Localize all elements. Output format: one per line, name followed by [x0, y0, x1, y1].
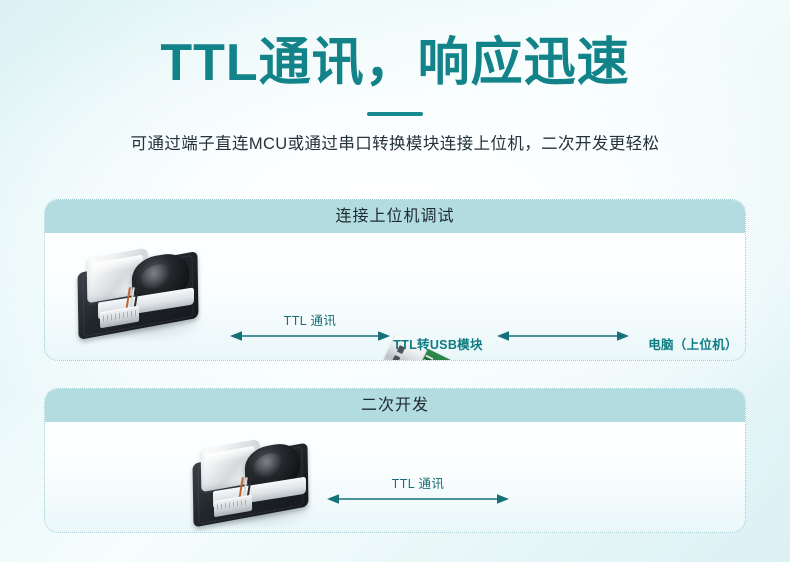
card2-body: TTL 通讯 MCU — [45, 422, 745, 532]
card2-header: 二次开发 — [45, 389, 745, 422]
caption-computer: 电脑（上位机） — [593, 334, 746, 353]
title-divider — [367, 112, 423, 116]
page-subtitle: 可通过端子直连MCU或通过串口转换模块连接上位机，二次开发更轻松 — [0, 130, 790, 154]
header-block: TTL通讯，响应迅速 可通过端子直连MCU或通过串口转换模块连接上位机，二次开发… — [0, 34, 790, 154]
card-host-debug: 连接上位机调试 TTL 通讯 — [44, 199, 746, 361]
arrow-sensor-to-mcu: TTL 通讯 — [327, 464, 509, 506]
sensor-module-image-1 — [75, 247, 205, 343]
arrow-label-ttl-3: TTL 通讯 — [392, 473, 445, 492]
mcu-label: MCU — [532, 532, 608, 533]
mcu-chip-image: MCU — [532, 532, 608, 533]
card1-header: 连接上位机调试 — [45, 200, 745, 233]
usb-slot-2 — [393, 355, 401, 361]
page-background: TTL通讯，响应迅速 可通过端子直连MCU或通过串口转换模块连接上位机，二次开发… — [0, 0, 790, 562]
arrow-label-ttl-1: TTL 通讯 — [284, 310, 337, 329]
card1-body: TTL 通讯 — [45, 233, 745, 360]
sensor-module-image-2 — [190, 438, 315, 530]
card-secondary-development: 二次开发 TTL 通讯 — [44, 388, 746, 533]
arrow-glyph-double-3 — [327, 492, 509, 506]
page-title: TTL通讯，响应迅速 — [0, 34, 790, 92]
